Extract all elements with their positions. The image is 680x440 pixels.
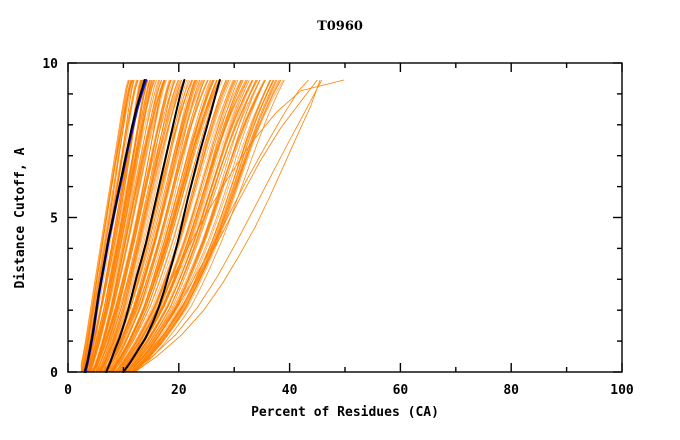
x-axis-label: Percent of Residues (CA) — [251, 405, 439, 420]
y-tick-label: 0 — [50, 366, 58, 381]
figure-background — [0, 0, 680, 440]
x-tick-label: 100 — [610, 383, 634, 398]
plot-svg: T0960 Percent of Residues (CA) Distance … — [0, 0, 680, 440]
figure-root: T0960 Percent of Residues (CA) Distance … — [0, 0, 680, 440]
page-title: T0960 — [317, 19, 363, 34]
y-axis-label: Distance Cutoff, A — [13, 147, 28, 288]
y-tick-label: 10 — [42, 57, 58, 72]
x-tick-label: 0 — [64, 383, 72, 398]
x-tick-label: 20 — [171, 383, 187, 398]
x-tick-label: 60 — [393, 383, 409, 398]
y-tick-label: 5 — [50, 212, 58, 227]
x-tick-label: 80 — [503, 383, 519, 398]
x-tick-label: 40 — [282, 383, 298, 398]
